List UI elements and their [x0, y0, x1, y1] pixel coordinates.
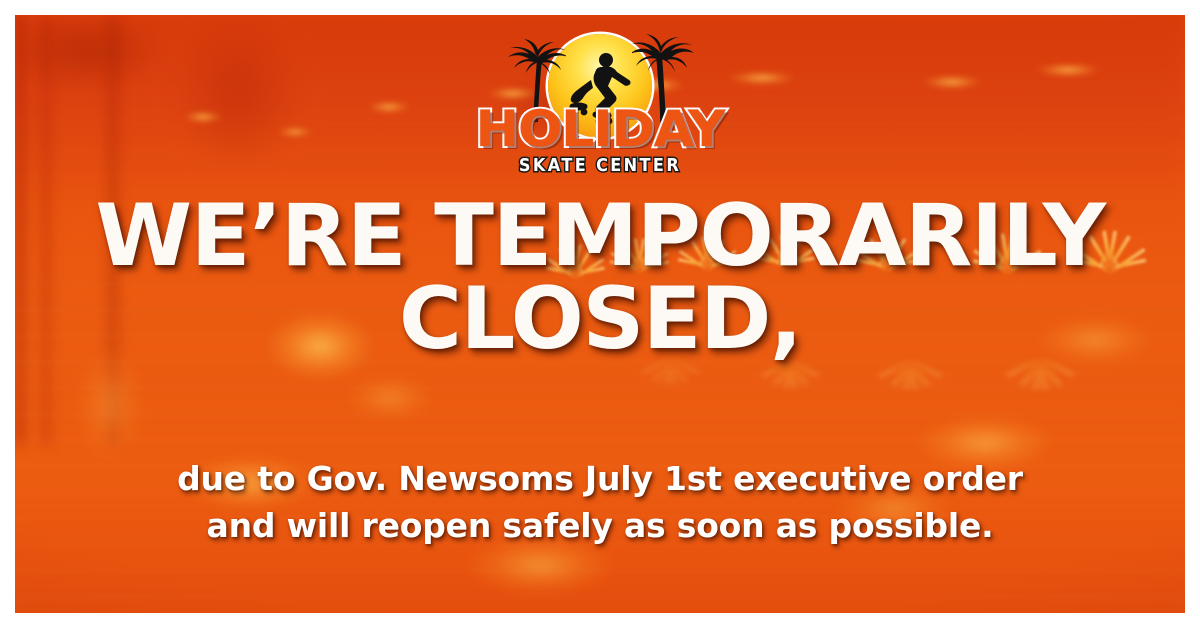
subtitle-line-1: due to Gov. Newsoms July 1st executive o… — [70, 456, 1130, 503]
logo-wordmark: HOLIDAY — [475, 104, 725, 154]
logo-tagline: SKATE CENTER — [490, 156, 711, 176]
headline-line-1: WE’RE TEMPORARILY — [29, 195, 1171, 278]
holiday-skate-center-logo: HOLIDAY SKATE CENTER — [480, 28, 720, 173]
headline: WE’RE TEMPORARILY CLOSED, — [40, 195, 1160, 360]
subtitle: due to Gov. Newsoms July 1st executive o… — [70, 456, 1130, 550]
subtitle-line-2: and will reopen safely as soon as possib… — [70, 503, 1130, 550]
poster-content: HOLIDAY SKATE CENTER WE’RE TEMPORARILY C… — [0, 0, 1200, 628]
headline-line-2: CLOSED, — [40, 278, 1160, 361]
announcement-poster: HOLIDAY SKATE CENTER WE’RE TEMPORARILY C… — [0, 0, 1200, 628]
